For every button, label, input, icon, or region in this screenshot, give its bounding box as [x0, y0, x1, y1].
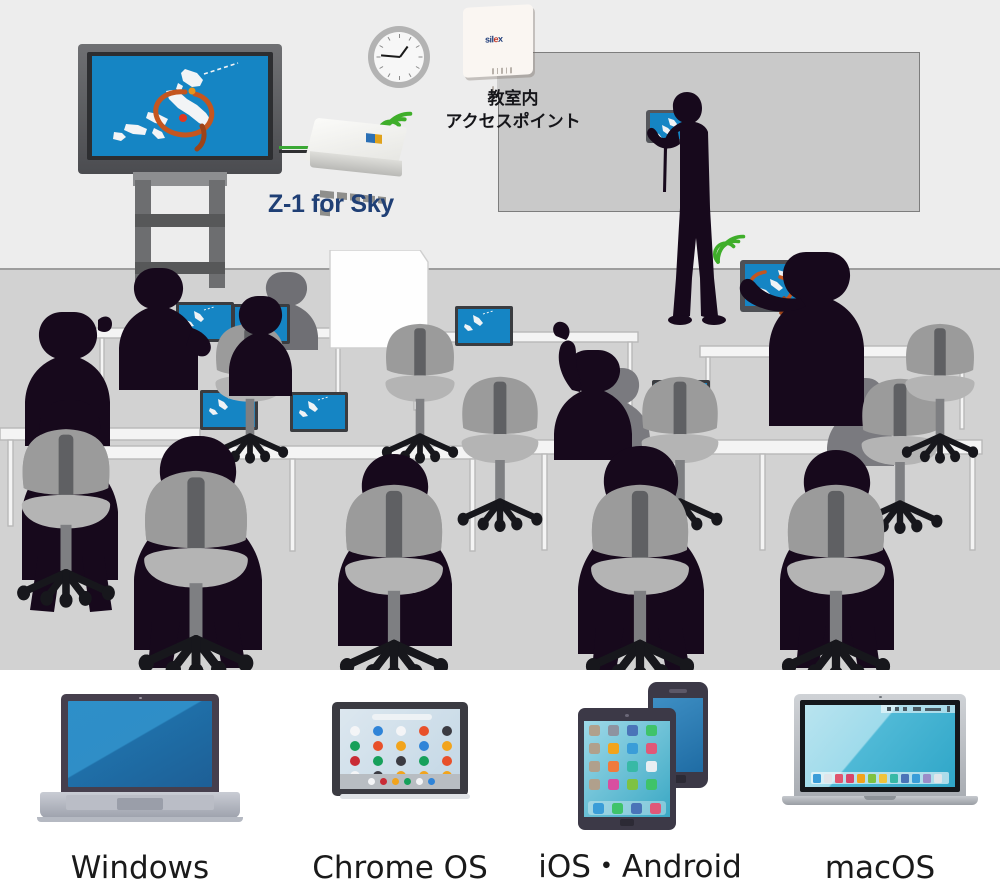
platform-windows: Windows: [0, 670, 280, 888]
platform-macos-label: macOS: [760, 850, 1000, 886]
z1-device-badge: [366, 133, 382, 144]
platform-ios-android: iOS・Android: [520, 670, 760, 888]
access-point-label: 教室内 アクセスポイント: [427, 88, 599, 134]
display-cable-green: [279, 146, 309, 149]
platform-ios-android-label: iOS・Android: [520, 841, 760, 886]
clock-face: [374, 32, 424, 82]
platform-windows-label: Windows: [0, 850, 280, 886]
display-screen-japan-map: [92, 56, 268, 156]
japan-map-graphic: [92, 56, 268, 156]
display-bezel: [78, 44, 282, 174]
wireless-access-point: silex: [463, 6, 541, 84]
platform-chromeos: Chrome OS: [280, 670, 520, 888]
clock-hour-hand: [399, 46, 408, 58]
laptop-webcam-icon: [139, 697, 142, 699]
access-point-label-line1: 教室内: [427, 88, 599, 111]
classroom-scene: silex: [0, 0, 1000, 670]
silex-logo: silex: [485, 33, 519, 47]
supported-platforms-strip: Windows: [0, 670, 1000, 888]
tablet-icon: [578, 708, 676, 830]
display-frame: [87, 52, 273, 160]
ios-android-devices-icon: [520, 676, 760, 826]
display-stand-crossbar-upper: [135, 214, 225, 227]
chromeos-tablet-icon: [280, 676, 520, 826]
front-display-monitor: [78, 44, 284, 274]
macos-dock: [811, 772, 949, 784]
platform-macos: macOS: [760, 670, 1000, 888]
access-point-label-line2: アクセスポイント: [427, 111, 599, 134]
phone-speaker: [669, 689, 687, 693]
tablet-app-grid: [589, 725, 665, 797]
access-point-led-row: [492, 60, 518, 67]
macbook-laptop-icon: [760, 676, 1000, 826]
windows-laptop-icon: [0, 676, 280, 826]
tablet-dock: [588, 801, 666, 815]
tablet-camera-icon: [625, 714, 629, 717]
z1-for-sky-device: [306, 122, 410, 186]
access-point-body: silex: [463, 4, 533, 78]
macbook-camera-icon: [879, 696, 882, 698]
chromeos-shelf: [340, 774, 460, 789]
z1-device-label: Z-1 for Sky: [268, 190, 394, 219]
laptop-trackpad: [117, 798, 163, 810]
tablet-home-button: [620, 819, 634, 826]
students-silhouettes-layer: [0, 250, 1000, 670]
clock-minute-hand: [381, 54, 400, 58]
browser-url-bar: [372, 714, 432, 720]
platform-chromeos-label: Chrome OS: [280, 850, 520, 886]
macos-menu-bar: [881, 705, 955, 713]
app-grid: [350, 726, 452, 770]
wall-clock-icon: [368, 26, 430, 88]
macbook-lid-notch: [864, 796, 896, 800]
display-cable-black: [279, 150, 309, 153]
